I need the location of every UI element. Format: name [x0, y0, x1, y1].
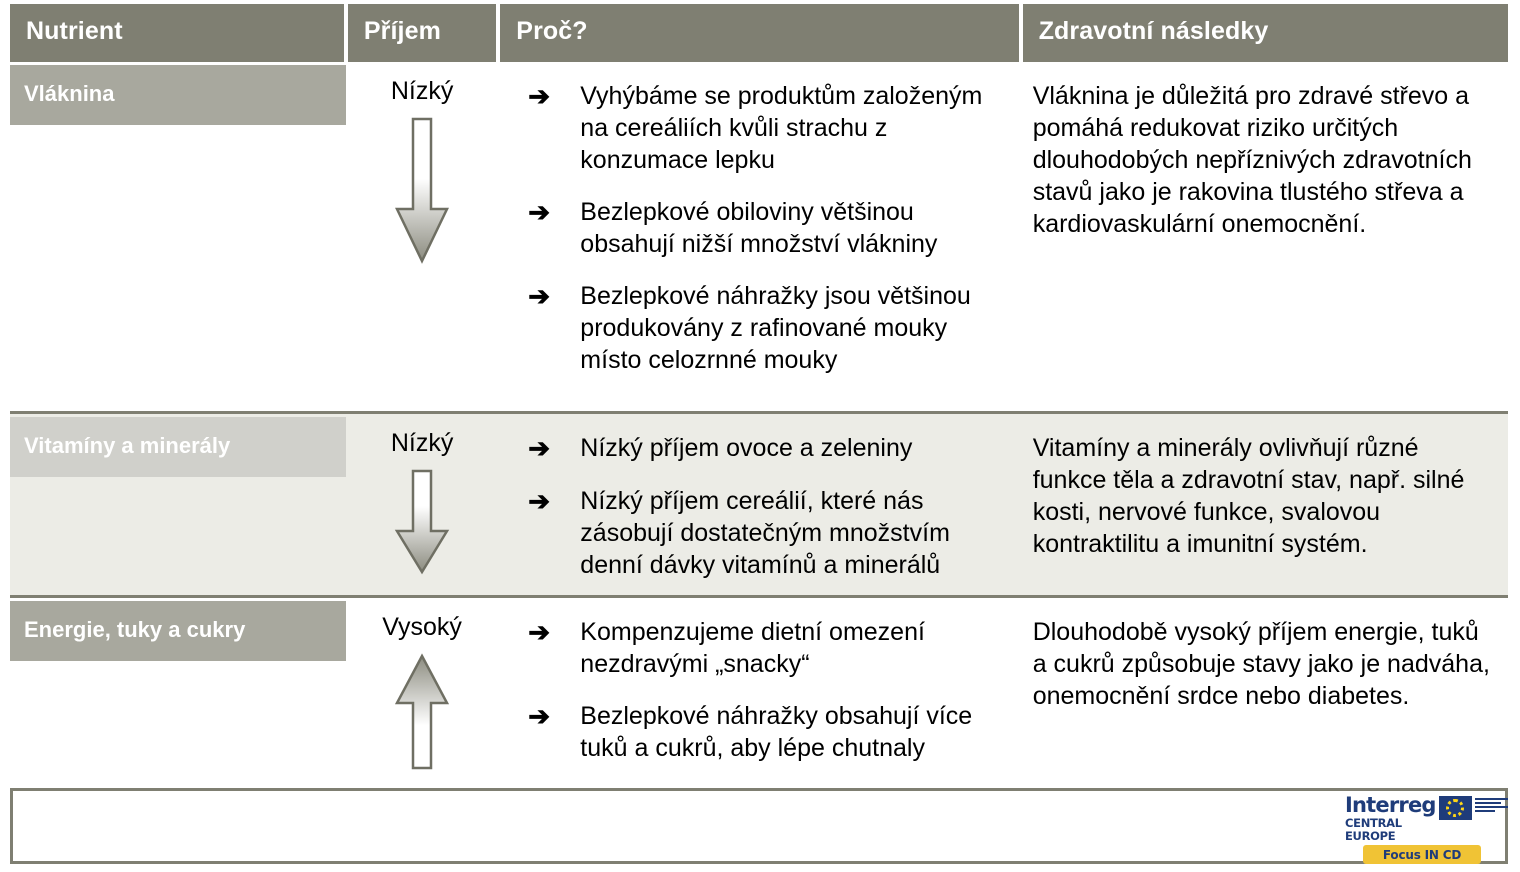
arrow-bullet-icon: ➔: [506, 485, 580, 518]
list-item: ➔ Vyhýbáme se produktům založeným na cer…: [506, 80, 1006, 176]
interreg-logo: Interreg CENTRAL EUROPE Focus IN CD: [1345, 796, 1493, 858]
consequences-cell: Dlouhodobě vysoký příjem energie, tuků a…: [1021, 596, 1508, 784]
arrow-bullet-icon: ➔: [506, 280, 580, 313]
table-row: Vláknina Nízký: [10, 60, 1508, 412]
intake-cell: Nízký: [346, 412, 498, 596]
reasons-cell: ➔ Nízký příjem ovoce a zeleniny ➔ Nízký …: [498, 412, 1020, 596]
consequence-text: Vláknina je důležitá pro zdravé střevo a…: [1021, 62, 1508, 254]
column-header-consequences: Zdravotní následky: [1021, 4, 1508, 60]
list-item: ➔ Bezlepkové náhražky jsou většinou prod…: [506, 280, 1006, 376]
intake-level: Nízký: [391, 78, 454, 106]
list-item: ➔ Nízký příjem ovoce a zeleniny: [506, 432, 1006, 465]
intake-cell: Vysoký: [346, 596, 498, 784]
eu-stars-ring: [1446, 799, 1464, 817]
arrow-bullet-icon: ➔: [506, 700, 580, 733]
consequences-cell: Vitamíny a minerály ovlivňují různé funk…: [1021, 412, 1508, 596]
list-item: ➔ Kompenzujeme dietní omezení nezdravými…: [506, 616, 1006, 680]
intake-cell: Nízký: [346, 60, 498, 412]
column-header-nutrient: Nutrient: [10, 4, 346, 60]
reason-text: Nízký příjem ovoce a zeleniny: [580, 432, 1006, 464]
down-arrow-icon: [393, 469, 451, 577]
reason-text: Bezlepkové náhražky obsahují více tuků a…: [580, 700, 1006, 764]
nutrient-label-cell: Energie, tuky a cukry: [10, 596, 346, 784]
nutrient-name: Energie, tuky a cukry: [10, 601, 346, 661]
table-row: Vitamíny a minerály Nízký: [10, 412, 1508, 596]
arrow-bullet-icon: ➔: [506, 80, 580, 113]
down-arrow-icon: [393, 117, 451, 267]
list-item: ➔ Nízký příjem cereálií, které nás zásob…: [506, 485, 1006, 581]
reason-text: Vyhýbáme se produktům založeným na cereá…: [580, 80, 1006, 176]
column-header-reason: Proč?: [498, 4, 1020, 60]
reason-text: Nízký příjem cereálií, které nás zásobuj…: [580, 485, 1006, 581]
logo-programme-text: CENTRAL EUROPE: [1345, 817, 1436, 842]
nutrient-name: Vitamíny a minerály: [10, 417, 346, 477]
consequence-text: Vitamíny a minerály ovlivňují různé funk…: [1021, 414, 1508, 574]
reason-text: Kompenzujeme dietní omezení nezdravými „…: [580, 616, 1006, 680]
list-item: ➔ Bezlepkové náhražky obsahují více tuků…: [506, 700, 1006, 764]
reasons-cell: ➔ Vyhýbáme se produktům založeným na cer…: [498, 60, 1020, 412]
logo-bars-icon: [1475, 796, 1508, 814]
reasons-cell: ➔ Kompenzujeme dietní omezení nezdravými…: [498, 596, 1020, 784]
table-row: Energie, tuky a cukry Vysoký: [10, 596, 1508, 784]
logo-brand-text: Interreg: [1345, 796, 1436, 816]
nutrient-table: Nutrient Příjem Proč? Zdravotní následky…: [10, 4, 1508, 784]
arrow-bullet-icon: ➔: [506, 616, 580, 649]
nutrient-label-cell: Vitamíny a minerály: [10, 412, 346, 596]
arrow-bullet-icon: ➔: [506, 432, 580, 465]
list-item: ➔ Bezlepkové obiloviny většinou obsahují…: [506, 196, 1006, 260]
arrow-bullet-icon: ➔: [506, 196, 580, 229]
eu-flag-icon: [1439, 796, 1472, 820]
nutrient-table-slide: Nutrient Příjem Proč? Zdravotní následky…: [0, 0, 1520, 872]
intake-level: Vysoký: [382, 614, 462, 642]
column-header-intake: Příjem: [346, 4, 498, 60]
consequence-text: Dlouhodobě vysoký příjem energie, tuků a…: [1021, 598, 1508, 726]
nutrient-name: Vláknina: [10, 65, 346, 125]
reason-text: Bezlepkové náhražky jsou většinou produk…: [580, 280, 1006, 376]
intake-level: Nízký: [391, 430, 454, 458]
up-arrow-icon: [393, 653, 451, 771]
project-badge: Focus IN CD: [1363, 845, 1481, 864]
consequences-cell: Vláknina je důležitá pro zdravé střevo a…: [1021, 60, 1508, 412]
table-header-row: Nutrient Příjem Proč? Zdravotní následky: [10, 4, 1508, 60]
reason-text: Bezlepkové obiloviny většinou obsahují n…: [580, 196, 1006, 260]
footer-bar: Interreg CENTRAL EUROPE Focus IN CD: [10, 788, 1508, 864]
nutrient-label-cell: Vláknina: [10, 60, 346, 412]
